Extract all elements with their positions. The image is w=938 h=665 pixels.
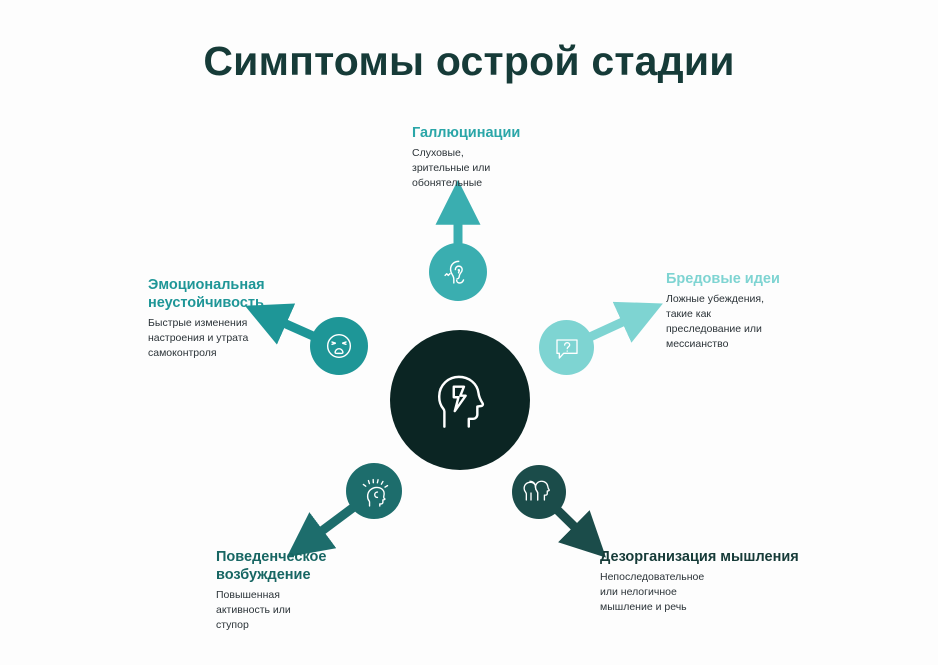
heading-delusional-ideas: Бредовые идеи [666,270,856,288]
description-emotional-instability: Быстрые изменения настроения и утрата са… [148,316,334,361]
label-disorganized-thinking: Дезорганизация мышления Непоследовательн… [600,548,810,615]
central-hub-node[interactable] [390,330,530,470]
node-behavioral-agitation[interactable] [346,463,402,519]
head-lightning-icon [423,363,497,437]
infographic-canvas: Симптомы острой стадии [0,0,938,665]
description-disorganized-thinking: Непоследовательное или нелогичное мышлен… [600,570,810,615]
label-delusional-ideas: Бредовые идеи Ложные убеждения, такие ка… [666,270,856,352]
description-delusional-ideas: Ложные убеждения, такие как преследовани… [666,292,856,352]
heading-emotional-instability: Эмоциональная неустойчивость [148,276,334,312]
heading-behavioral-agitation: Поведенческое возбуждение [216,548,416,584]
overlapping-heads-icon [523,476,555,508]
label-hallucinations: Галлюцинации Слуховые, зрительные или об… [412,124,602,191]
agitated-head-icon [358,475,391,508]
label-behavioral-agitation: Поведенческое возбуждение Повышенная акт… [216,548,416,633]
ear-sound-waves-icon [441,255,475,289]
node-hallucinations[interactable] [429,243,487,301]
label-emotional-instability: Эмоциональная неустойчивость Быстрые изм… [148,276,334,361]
page-title: Симптомы острой стадии [0,38,938,85]
heading-disorganized-thinking: Дезорганизация мышления [600,548,810,566]
question-speech-bubble-icon [551,332,583,364]
node-disorganized-thinking[interactable] [512,465,566,519]
node-delusional-ideas[interactable] [539,320,594,375]
description-behavioral-agitation: Повышенная активность или ступор [216,588,416,633]
description-hallucinations: Слуховые, зрительные или обонятельные [412,146,602,191]
heading-hallucinations: Галлюцинации [412,124,602,142]
